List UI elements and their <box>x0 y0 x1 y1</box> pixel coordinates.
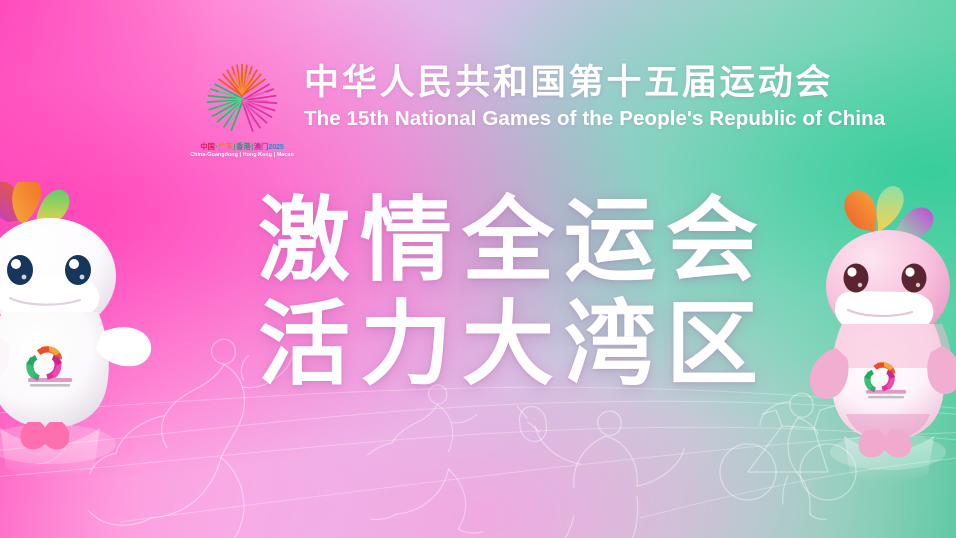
header-lockup: 中国·广东|香港|澳门2025 China-Guangdong | Hong K… <box>196 58 885 159</box>
emblem-region-guangdong: 广东 <box>218 142 233 151</box>
emblem-region-macao: 澳门 <box>254 142 269 151</box>
slogan-line-1: 激情全运会 <box>258 196 768 286</box>
mascot-left-white-dolphin <box>0 182 176 482</box>
games-emblem-icon <box>201 58 283 140</box>
emblem-sublabel: 中国·广东|香港|澳门2025 China-Guangdong | Hong K… <box>190 143 294 159</box>
title-english: The 15th National Games of the People's … <box>304 107 885 131</box>
mascot-right-pink-dolphin <box>796 186 956 486</box>
poster-canvas: 中国·广东|香港|澳门2025 China-Guangdong | Hong K… <box>0 0 956 538</box>
slogan-block: 激情全运会 活力大湾区 <box>258 196 768 390</box>
emblem-region-hongkong: 香港 <box>236 142 251 151</box>
emblem-sublabel-cn: 中国·广东|香港|澳门2025 <box>190 143 294 151</box>
title-block: 中华人民共和国第十五届运动会 The 15th National Games o… <box>304 58 885 131</box>
slogan-line-2: 活力大湾区 <box>258 300 768 390</box>
title-chinese: 中华人民共和国第十五届运动会 <box>304 64 885 101</box>
emblem-block: 中国·广东|香港|澳门2025 China-Guangdong | Hong K… <box>196 58 288 159</box>
emblem-region-china: 中国 <box>200 142 215 151</box>
emblem-sublabel-en: China-Guangdong | Hong Kong | Macao <box>190 152 294 158</box>
emblem-year: 2025 <box>268 142 283 151</box>
